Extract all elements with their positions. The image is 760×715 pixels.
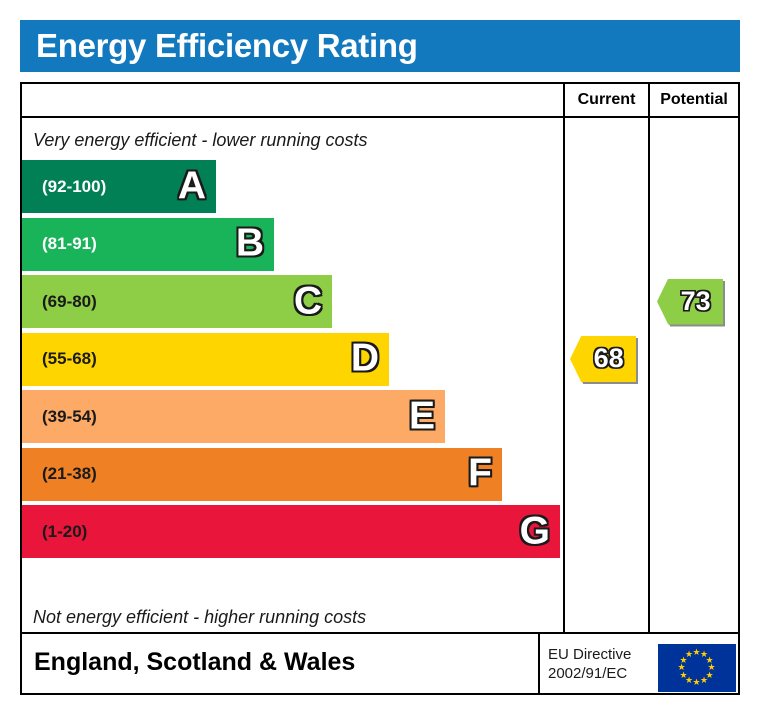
- band-letter-d: D: [351, 339, 379, 378]
- band-range-c: (69-80): [42, 292, 97, 312]
- caption-not-efficient: Not energy efficient - higher running co…: [33, 607, 366, 628]
- column-divider-potential: [648, 82, 650, 634]
- footer-region-label: England, Scotland & Wales: [34, 648, 355, 677]
- band-letter-b: B: [236, 224, 264, 263]
- current-rating-arrow: 68: [570, 336, 636, 382]
- eu-directive-label: EU Directive 2002/91/EC: [548, 645, 631, 683]
- current-rating-value: 68: [581, 345, 636, 372]
- band-range-e: (39-54): [42, 407, 97, 427]
- caption-very-efficient: Very energy efficient - lower running co…: [33, 130, 368, 151]
- band-letter-c: C: [294, 281, 322, 320]
- column-header-potential: Potential: [650, 89, 738, 111]
- band-b: (81-91)B: [22, 218, 274, 271]
- eu-directive-line-1: EU Directive: [548, 645, 631, 664]
- energy-efficiency-rating-chart: Energy Efficiency Rating Current Potenti…: [0, 0, 760, 715]
- band-e: (39-54)E: [22, 390, 445, 443]
- band-range-d: (55-68): [42, 349, 97, 369]
- band-range-b: (81-91): [42, 234, 97, 254]
- band-letter-e: E: [409, 396, 435, 435]
- chart-title-bar: Energy Efficiency Rating: [20, 20, 740, 72]
- band-range-a: (92-100): [42, 177, 106, 197]
- band-a: (92-100)A: [22, 160, 216, 213]
- band-letter-g: G: [520, 511, 550, 550]
- band-letter-f: F: [468, 454, 492, 493]
- band-range-f: (21-38): [42, 464, 97, 484]
- band-range-g: (1-20): [42, 522, 87, 542]
- eu-directive-line-2: 2002/91/EC: [548, 664, 631, 683]
- band-d: (55-68)D: [22, 333, 389, 386]
- footer-divider: [538, 634, 540, 695]
- column-header-current: Current: [565, 89, 648, 111]
- band-letter-a: A: [178, 166, 206, 205]
- potential-rating-arrow: 73: [657, 279, 723, 325]
- band-f: (21-38)F: [22, 448, 502, 501]
- page-title: Energy Efficiency Rating: [36, 27, 418, 65]
- eu-flag-icon: [658, 644, 736, 692]
- band-c: (69-80)C: [22, 275, 332, 328]
- potential-rating-value: 73: [668, 287, 723, 314]
- column-divider-current: [563, 82, 565, 634]
- band-g: (1-20)G: [22, 505, 560, 558]
